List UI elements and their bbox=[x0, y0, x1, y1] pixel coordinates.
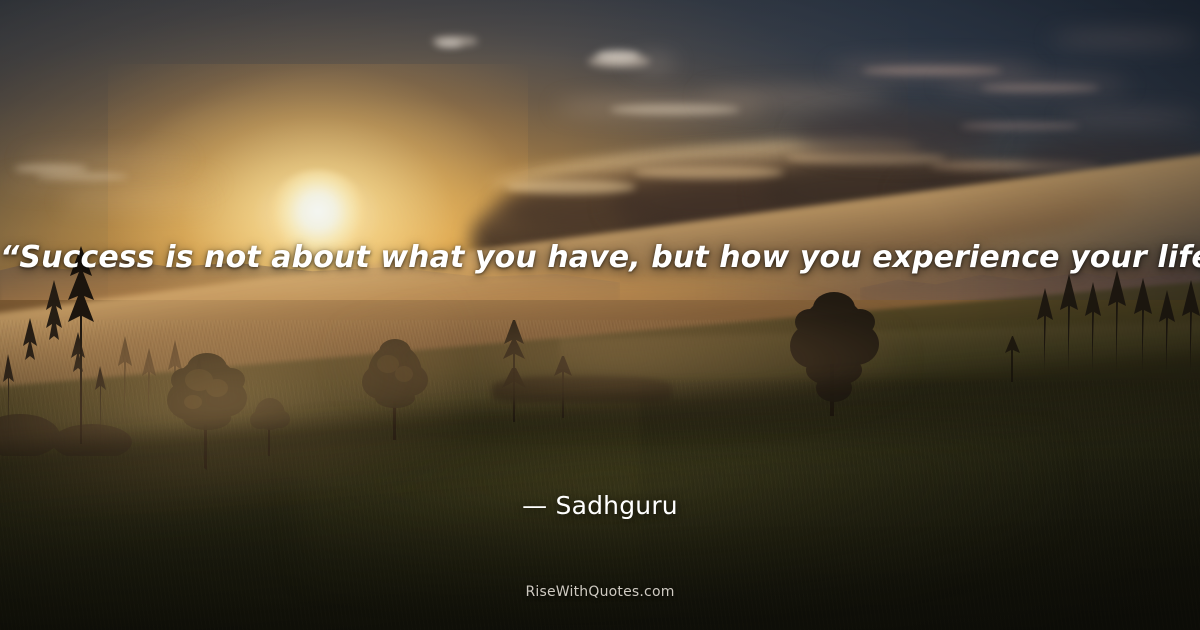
cloud-streak bbox=[980, 84, 1100, 92]
cloud-wisp bbox=[36, 173, 128, 180]
cloud-streak bbox=[1050, 32, 1200, 46]
cloud-bank-rim-light bbox=[506, 180, 636, 194]
cloud-streak bbox=[700, 88, 890, 106]
cloud-wisp bbox=[14, 164, 88, 173]
cloud-bank-rim-light bbox=[634, 166, 784, 179]
cloud-dark-right bbox=[796, 112, 996, 158]
cloud-wisp bbox=[60, 196, 210, 208]
quote-attribution: — Sadhguru bbox=[0, 491, 1200, 520]
cloud-streak bbox=[960, 122, 1080, 130]
cloud-small bbox=[630, 58, 676, 68]
cloud-streak bbox=[610, 104, 740, 115]
cloud-streak bbox=[1060, 112, 1200, 124]
site-watermark: RiseWithQuotes.com bbox=[0, 584, 1200, 600]
cloud-streak bbox=[862, 66, 1002, 75]
quote-text: “Success is not about what you have, but… bbox=[0, 240, 1200, 275]
cloud-small bbox=[436, 40, 462, 47]
quote-poster: “Success is not about what you have, but… bbox=[0, 0, 1200, 630]
